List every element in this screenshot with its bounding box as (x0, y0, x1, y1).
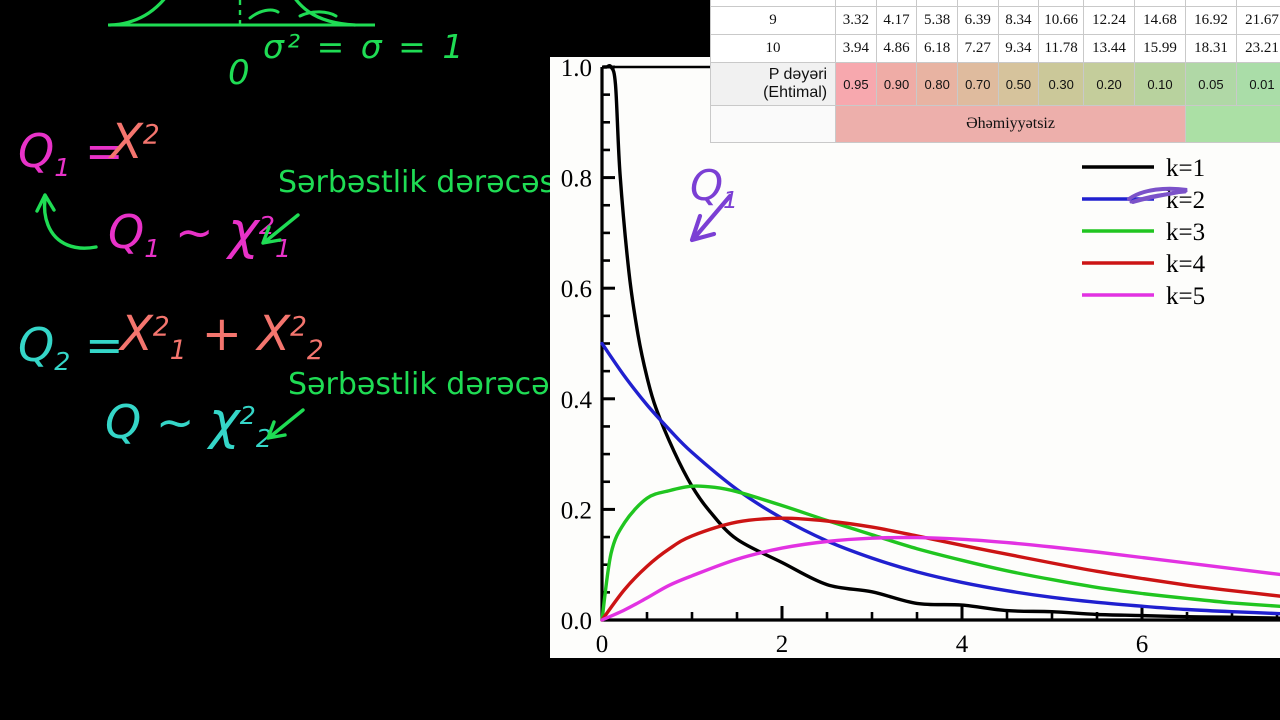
legend-label-k-5: k=5 (1166, 283, 1205, 310)
chi-dist2-subscript: 2 (256, 424, 272, 453)
distribution-q1: Q1 ~ χ21 (108, 205, 291, 261)
table-cell: 15.99 (1135, 35, 1186, 63)
equation-q2-lhs: Q2 = (18, 322, 124, 374)
table-cell: 14.68 (1135, 7, 1186, 35)
y-tick-label: 0.6 (561, 276, 592, 303)
banner-significant-region (1185, 106, 1280, 143)
table-cell: 21.67 (1236, 7, 1280, 35)
label-serbestlik-derecesi: Sərbəstlik dərəcəsi (278, 168, 564, 198)
x-tick-label: 6 (1136, 631, 1149, 658)
equation-q1-lhs: Q1 = (18, 128, 124, 180)
plot-annotation-q1: Q1 (690, 165, 738, 213)
plot-background (550, 57, 1280, 658)
chi-symbol: X (110, 114, 143, 170)
chi-dist2-exponent: 2 (240, 401, 256, 430)
screen: 0 σ² = σ = 1 Q1 = X2 Sərbəstlik dərəcəsi… (0, 0, 1280, 720)
q-dist-tilde: ~ (156, 395, 195, 449)
chi-exponent: 2 (143, 119, 160, 150)
p-value-cell: 0.90 (876, 63, 917, 106)
table-cell: 12.24 (1084, 7, 1135, 35)
table-row: 103.944.866.187.279.3411.7813.4415.9918.… (711, 35, 1280, 63)
x-tick-label: 0 (596, 631, 609, 658)
legend-label-k-1: k=1 (1166, 155, 1205, 182)
legend-label-k-4: k=4 (1166, 251, 1206, 278)
p-value-row: P dəyəri (Ehtimal)0.950.900.800.700.500.… (711, 63, 1280, 106)
q1-symbol: Q (18, 124, 54, 178)
p-value-cell: 0.30 (1039, 63, 1084, 106)
chi-dist-symbol: χ (228, 201, 259, 261)
table-cell: 6.18 (917, 35, 958, 63)
q2-equals: = (85, 318, 124, 372)
x-tick-label: 4 (956, 631, 969, 658)
banner-blank-cell (711, 106, 836, 143)
tilde-sign: ~ (175, 205, 214, 259)
table-row-header: 10 (711, 35, 836, 63)
plot-q-subscript: 1 (723, 188, 738, 214)
table-cell: 23.21 (1236, 35, 1280, 63)
chi1-exponent: 2 (153, 311, 170, 342)
y-tick-label: 1.0 (561, 57, 592, 82)
legend-label-k-3: k=3 (1166, 219, 1205, 246)
y-tick-label: 0.4 (561, 387, 593, 414)
q2-subscript: 2 (54, 347, 70, 376)
chi2-symbol: X (257, 306, 290, 362)
table-cell: 3.32 (836, 7, 877, 35)
significance-banner-row: Əhəmiyyətsiz (711, 106, 1280, 143)
table-cell: 3.94 (836, 35, 877, 63)
y-tick-label: 0.0 (561, 608, 592, 635)
distribution-q2: Q ~ χ22 (105, 395, 272, 451)
plus-sign: + (202, 306, 242, 362)
q2-symbol: Q (18, 318, 54, 372)
equation-q2-rhs: X21 + X22 (120, 310, 324, 365)
x-tick-label: 2 (776, 631, 789, 658)
chi-dist-exponent: 2 (259, 211, 275, 240)
q1-subscript: 1 (54, 153, 70, 182)
p-value-cell: 0.05 (1185, 63, 1236, 106)
q-dist-symbol: Q (105, 395, 141, 449)
table-cell: 6.39 (957, 7, 998, 35)
table-cell: 9.34 (998, 35, 1039, 63)
chi1-subscript: 1 (170, 335, 187, 366)
table-cell: 16.92 (1185, 7, 1236, 35)
y-tick-label: 0.2 (561, 497, 592, 524)
p-value-cell: 0.80 (917, 63, 958, 106)
table-cell: 5.38 (917, 7, 958, 35)
q1-dist-symbol: Q (108, 205, 144, 259)
table-cell: 7.27 (957, 35, 998, 63)
chi2-subscript: 2 (307, 335, 324, 366)
table-cell: 13.44 (1084, 35, 1135, 63)
p-value-cell: 0.01 (1236, 63, 1280, 106)
table-cell: 4.86 (876, 35, 917, 63)
table-cell: 4.17 (876, 7, 917, 35)
chi2-exponent: 2 (290, 311, 307, 342)
p-value-cell: 0.95 (836, 63, 877, 106)
banner-insignificant-label: Əhəmiyyətsiz (836, 106, 1186, 143)
table-row: 93.324.175.386.398.3410.6612.2414.6816.9… (711, 7, 1280, 35)
table-cell: 18.31 (1185, 35, 1236, 63)
equation-q1-rhs: X2 (110, 118, 160, 166)
chi-square-critical-values-table: 82.733.494.595.537.349.5211.0313.3615.51… (710, 0, 1280, 143)
table-cell: 8.34 (998, 7, 1039, 35)
table-cell: 10.66 (1039, 7, 1084, 35)
p-value-cell: 0.20 (1084, 63, 1135, 106)
y-tick-label: 0.8 (561, 166, 592, 193)
bell-variance-note: σ² = σ = 1 (263, 30, 466, 63)
table-row-header: 9 (711, 7, 836, 35)
chi-dist2-symbol: χ (209, 391, 240, 451)
p-value-cell: 0.50 (998, 63, 1039, 106)
p-value-cell: 0.10 (1135, 63, 1186, 106)
chi-dist-subscript: 1 (275, 234, 291, 263)
plot-q-symbol: Q (690, 161, 723, 210)
legend-label-k-2: k=2 (1166, 187, 1205, 214)
p-value-cell: 0.70 (957, 63, 998, 106)
q1-dist-subscript: 1 (144, 234, 160, 263)
plot-svg: 0.00.20.40.60.81.00246 k=1k=2k=3k=4k=5 (550, 57, 1280, 658)
chi1-symbol: X (120, 306, 153, 362)
bell-zero-label: 0 (228, 56, 250, 90)
p-value-row-header: P dəyəri (Ehtimal) (711, 63, 836, 106)
table-cell: 11.78 (1039, 35, 1084, 63)
chi-square-pdf-chart: 0.00.20.40.60.81.00246 k=1k=2k=3k=4k=5 Q… (550, 57, 1280, 658)
